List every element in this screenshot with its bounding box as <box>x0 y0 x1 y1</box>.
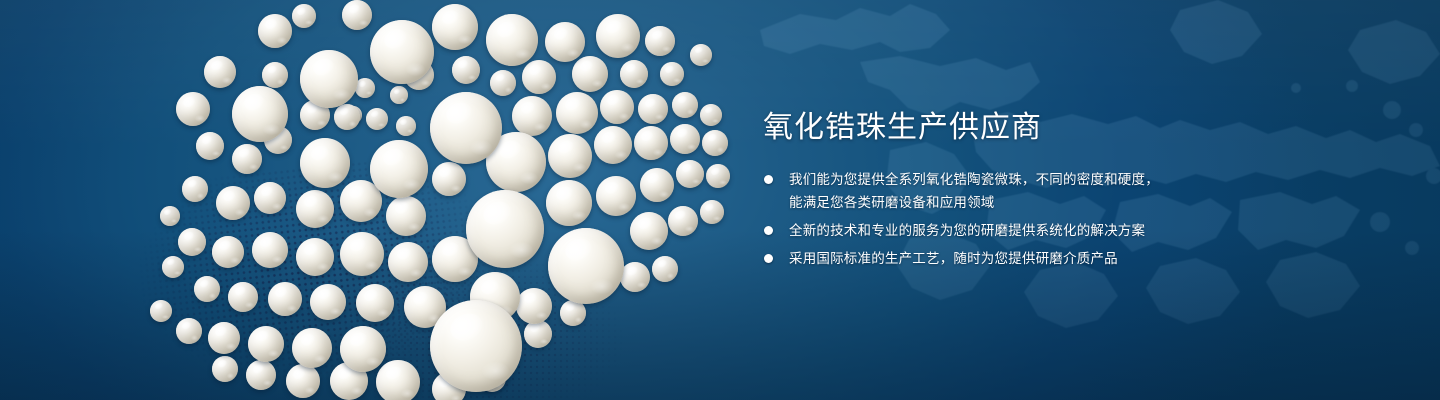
page-title: 氧化锆珠生产供应商 <box>763 108 1323 148</box>
bullet-dot-icon <box>764 254 773 263</box>
feature-item: 全新的技术和专业的服务为您的研磨提供系统化的解决方案 <box>763 219 1323 242</box>
bullet-dot-icon <box>764 226 773 235</box>
feature-line: 我们能为您提供全系列氧化锆陶瓷微珠，不同的密度和硬度， <box>789 168 1323 191</box>
banner-text-block: 氧化锆珠生产供应商 我们能为您提供全系列氧化锆陶瓷微珠，不同的密度和硬度，能满足… <box>763 108 1323 275</box>
feature-item: 我们能为您提供全系列氧化锆陶瓷微珠，不同的密度和硬度，能满足您各类研磨设备和应用… <box>763 168 1323 214</box>
bullet-dot-icon <box>764 175 773 184</box>
feature-item: 采用国际标准的生产工艺，随时为您提供研磨介质产品 <box>763 247 1323 270</box>
feature-line: 全新的技术和专业的服务为您的研磨提供系统化的解决方案 <box>789 219 1323 242</box>
feature-line: 采用国际标准的生产工艺，随时为您提供研磨介质产品 <box>789 247 1323 270</box>
feature-list: 我们能为您提供全系列氧化锆陶瓷微珠，不同的密度和硬度，能满足您各类研磨设备和应用… <box>763 168 1323 270</box>
feature-line: 能满足您各类研磨设备和应用领域 <box>789 191 1323 214</box>
hero-banner: 氧化锆珠生产供应商 我们能为您提供全系列氧化锆陶瓷微珠，不同的密度和硬度，能满足… <box>0 0 1440 400</box>
